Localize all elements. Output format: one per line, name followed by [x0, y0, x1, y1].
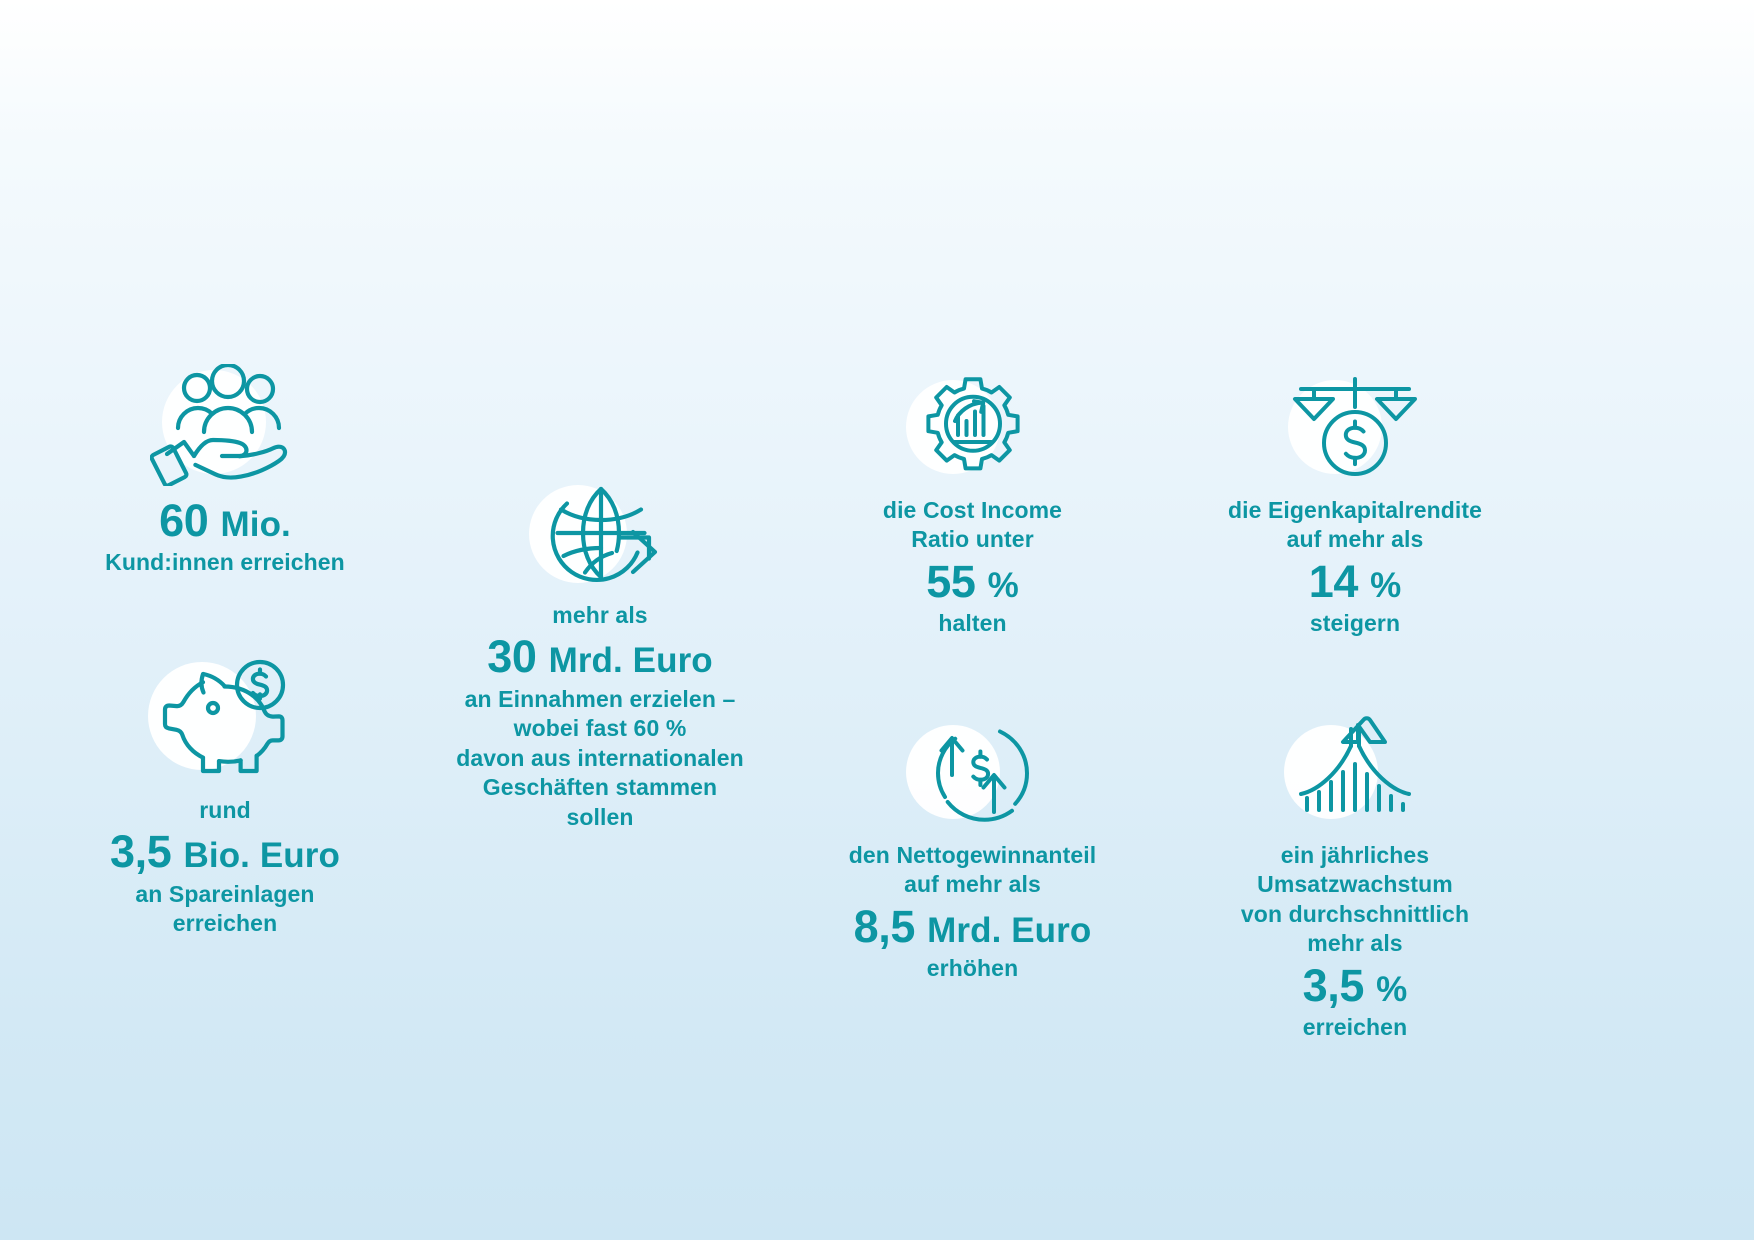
- stat-lead-growth-line1: ein jährliches: [1200, 841, 1510, 870]
- growth-arrow-bars-icon: [1270, 715, 1440, 835]
- stat-value-cir: 55 %: [840, 557, 1105, 607]
- stat-lead-savings: rund: [60, 796, 390, 825]
- stat-value-revenue: 30 Mrd. Euro: [420, 632, 780, 682]
- stat-caption-revenue-line4: Geschäften stammen: [420, 773, 780, 802]
- stat-caption-roe: steigern: [1200, 609, 1510, 638]
- stat-lead-cir-line2: Ratio unter: [840, 525, 1105, 554]
- stat-caption-cir: halten: [840, 609, 1105, 638]
- piggy-bank-icon: [130, 650, 320, 790]
- people-in-hand-icon: [140, 360, 310, 490]
- stat-block-return-on-equity: die Eigenkapitalrendite auf mehr als 14 …: [1200, 370, 1510, 639]
- stat-caption-savings-line2: erreichen: [60, 909, 390, 938]
- stat-block-savings: rund 3,5 Bio. Euro an Spareinlagen errei…: [60, 650, 390, 939]
- stat-lead-netprofit-line1: den Nettogewinnanteil: [820, 841, 1125, 870]
- stat-lead-netprofit-line2: auf mehr als: [820, 870, 1125, 899]
- stat-caption-customers: Kund:innen erreichen: [60, 548, 390, 577]
- cycle-dollar-arrows-icon: [898, 715, 1048, 835]
- stat-lead-growth-line3: von durchschnittlich: [1200, 900, 1510, 929]
- stat-lead-cir-line1: die Cost Income: [840, 496, 1105, 525]
- stat-block-cost-income-ratio: die Cost Income Ratio unter 55 % halten: [840, 370, 1105, 639]
- stat-caption-savings-line1: an Spareinlagen: [60, 880, 390, 909]
- stat-block-revenue-growth: ein jährliches Umsatzwachstum von durchs…: [1200, 715, 1510, 1043]
- stat-lead-growth-line2: Umsatzwachstum: [1200, 870, 1510, 899]
- gear-chart-icon: [898, 370, 1048, 490]
- stat-caption-revenue-line1: an Einnahmen erzielen –: [420, 685, 780, 714]
- balance-scale-dollar-icon: [1270, 370, 1440, 490]
- stat-value-savings: 3,5 Bio. Euro: [60, 827, 390, 877]
- stat-lead-revenue: mehr als: [420, 601, 780, 630]
- stat-caption-revenue-line2: wobei fast 60 %: [420, 714, 780, 743]
- stat-caption-revenue-line3: davon aus internationalen: [420, 744, 780, 773]
- stat-value-customers: 60 Mio.: [60, 496, 390, 546]
- stat-caption-growth: erreichen: [1200, 1013, 1510, 1042]
- stat-block-customers: 60 Mio. Kund:innen erreichen: [60, 360, 390, 578]
- stat-value-growth: 3,5 %: [1200, 961, 1510, 1011]
- stat-lead-roe-line2: auf mehr als: [1200, 525, 1510, 554]
- stat-value-netprofit: 8,5 Mrd. Euro: [820, 902, 1125, 952]
- globe-arrow-icon: [515, 475, 685, 595]
- stat-value-roe: 14 %: [1200, 557, 1510, 607]
- stat-caption-netprofit: erhöhen: [820, 954, 1125, 983]
- stat-caption-revenue-line5: sollen: [420, 803, 780, 832]
- infographic-canvas: 60 Mio. Kund:innen erreichen run: [0, 0, 1754, 1240]
- stat-lead-roe-line1: die Eigenkapitalrendite: [1200, 496, 1510, 525]
- stat-block-net-profit-share: den Nettogewinnanteil auf mehr als 8,5 M…: [820, 715, 1125, 984]
- stat-lead-growth-line4: mehr als: [1200, 929, 1510, 958]
- stat-block-revenue: mehr als 30 Mrd. Euro an Einnahmen erzie…: [420, 475, 780, 832]
